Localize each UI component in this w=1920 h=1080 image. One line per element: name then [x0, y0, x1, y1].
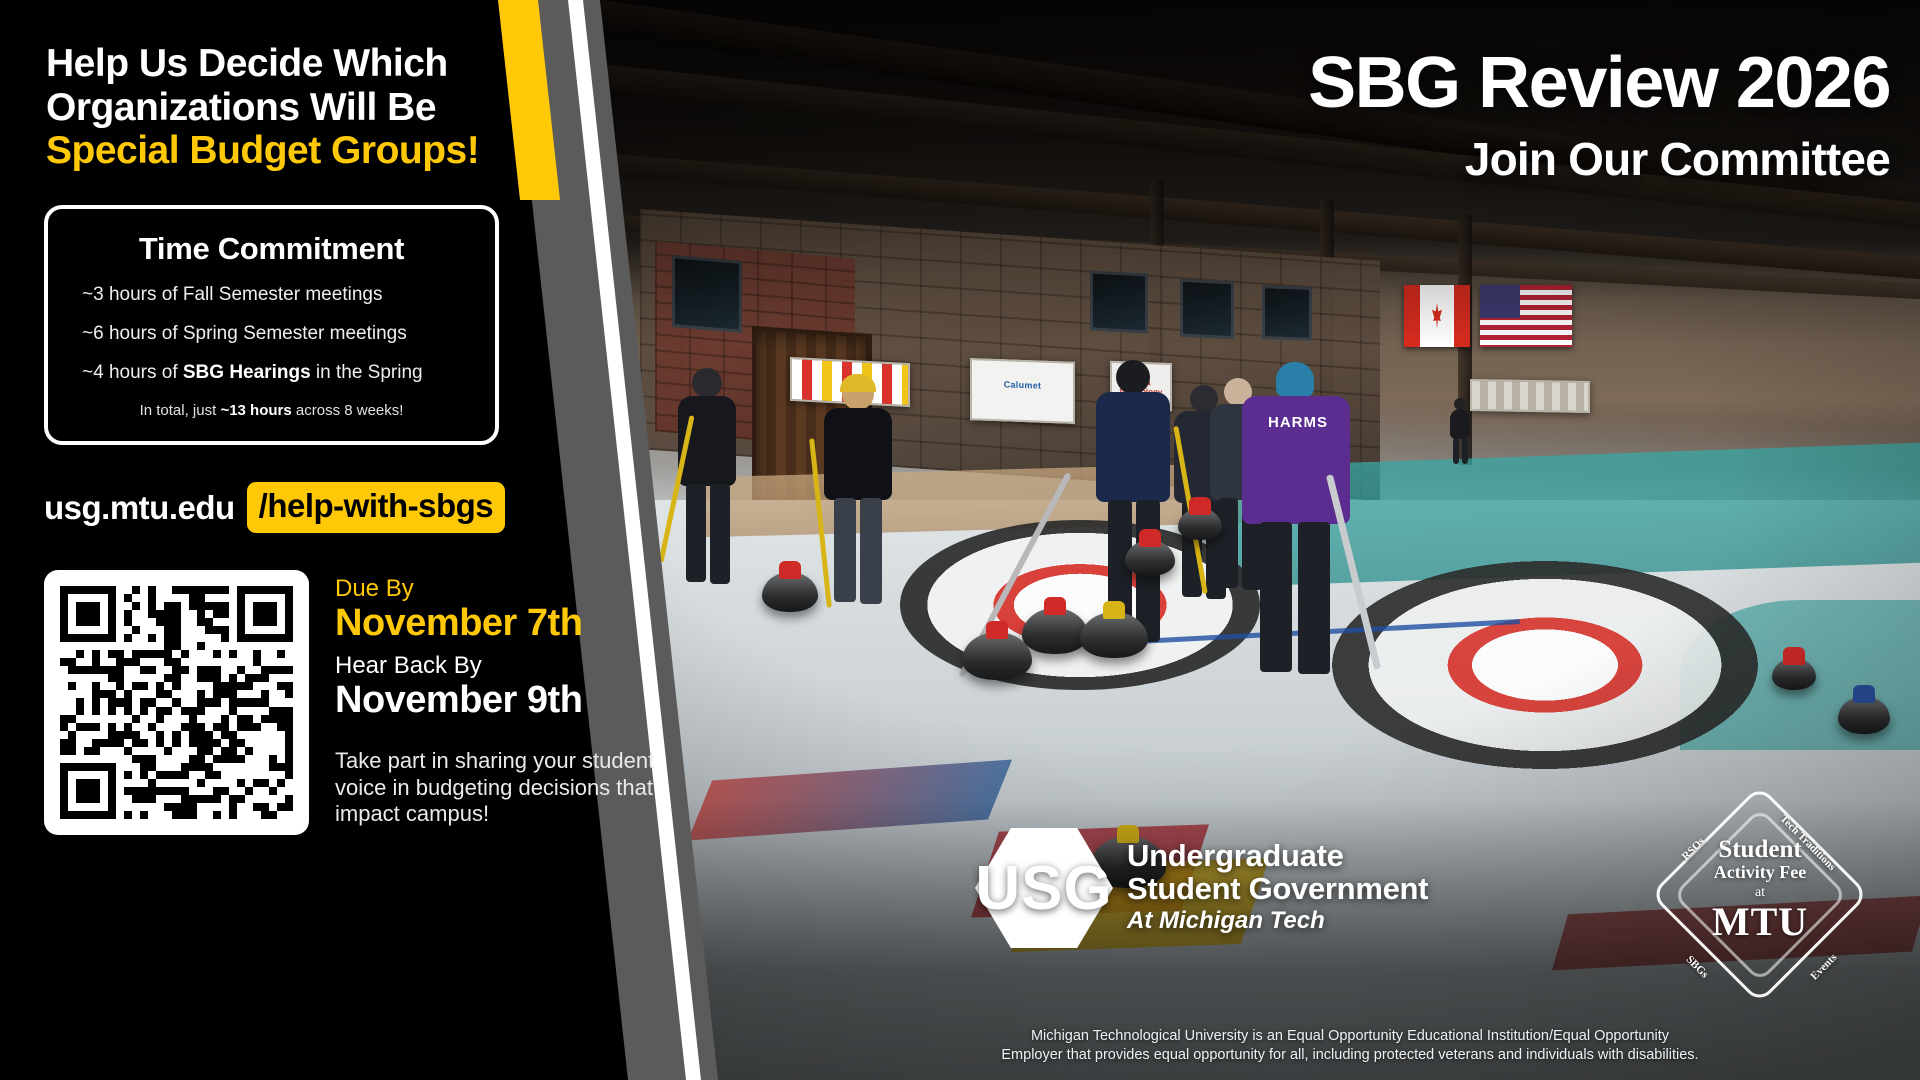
qr-module: [148, 594, 156, 602]
qr-module: [60, 698, 68, 706]
qr-module: [237, 811, 245, 819]
qr-module: [84, 650, 92, 658]
qr-module: [156, 610, 164, 618]
qr-module: [148, 739, 156, 747]
qr-module: [140, 779, 148, 787]
qr-module: [68, 602, 76, 610]
qr-module: [172, 634, 180, 642]
qr-module: [108, 731, 116, 739]
qr-module: [60, 747, 68, 755]
qr-module: [253, 803, 261, 811]
qr-module: [205, 747, 213, 755]
qr-module: [229, 610, 237, 618]
qr-module: [245, 642, 253, 650]
qr-module: [181, 787, 189, 795]
qr-module: [148, 682, 156, 690]
qr-module: [269, 787, 277, 795]
qr-module: [205, 715, 213, 723]
qr-module: [140, 634, 148, 642]
qr-module: [132, 610, 140, 618]
qr-module: [221, 658, 229, 666]
qr-module: [221, 634, 229, 642]
qr-module: [253, 682, 261, 690]
qr-module: [237, 787, 245, 795]
qr-module: [108, 690, 116, 698]
qr-module: [100, 787, 108, 795]
qr-module: [140, 763, 148, 771]
qr-module: [172, 698, 180, 706]
qr-module: [148, 723, 156, 731]
qr-module: [116, 739, 124, 747]
qr-module: [68, 715, 76, 723]
qr-module: [197, 594, 205, 602]
qr-module: [124, 658, 132, 666]
qr-module: [116, 698, 124, 706]
qr-module: [100, 642, 108, 650]
qr-module: [60, 787, 68, 795]
qr-module: [124, 715, 132, 723]
qr-module: [108, 634, 116, 642]
qr-module: [245, 755, 253, 763]
qr-module: [237, 795, 245, 803]
qr-module: [156, 658, 164, 666]
qr-module: [156, 650, 164, 658]
qr-module: [108, 795, 116, 803]
qr-module: [92, 707, 100, 715]
qr-module: [156, 586, 164, 594]
qr-module: [164, 771, 172, 779]
qr-module: [237, 731, 245, 739]
qr-module: [68, 739, 76, 747]
qr-module: [140, 731, 148, 739]
qr-module: [189, 698, 197, 706]
qr-module: [197, 650, 205, 658]
qr-module: [164, 650, 172, 658]
qr-module: [172, 747, 180, 755]
qr-module: [213, 747, 221, 755]
qr-module: [253, 690, 261, 698]
qr-module: [60, 586, 68, 594]
qr-module: [60, 771, 68, 779]
poster-subtitle: Join Our Committee: [1465, 132, 1890, 186]
qr-module: [172, 602, 180, 610]
qr-module: [229, 642, 237, 650]
qr-module: [124, 755, 132, 763]
qr-module: [156, 779, 164, 787]
qr-module: [181, 650, 189, 658]
qr-module: [245, 626, 253, 634]
qr-module: [116, 586, 124, 594]
qr-module: [68, 731, 76, 739]
qr-module: [164, 690, 172, 698]
qr-module: [140, 707, 148, 715]
qr-module: [229, 771, 237, 779]
qr-module: [277, 795, 285, 803]
qr-module: [116, 747, 124, 755]
qr-module: [205, 723, 213, 731]
qr-module: [148, 731, 156, 739]
qr-module: [221, 779, 229, 787]
qr-module: [92, 698, 100, 706]
qr-module: [189, 795, 197, 803]
qr-module: [261, 650, 269, 658]
qr-module: [100, 634, 108, 642]
qr-module: [172, 755, 180, 763]
qr-module: [189, 618, 197, 626]
qr-module: [269, 811, 277, 819]
qr-module: [108, 666, 116, 674]
qr-module: [181, 731, 189, 739]
qr-module: [285, 787, 293, 795]
qr-module: [253, 715, 261, 723]
qr-module: [92, 803, 100, 811]
website-url[interactable]: usg.mtu.edu /help-with-sbgs: [44, 482, 505, 533]
qr-module: [205, 787, 213, 795]
qr-module: [140, 787, 148, 795]
qr-module: [84, 658, 92, 666]
qr-module: [100, 610, 108, 618]
qr-module: [213, 634, 221, 642]
usg-letters: USG: [975, 828, 1113, 948]
qr-module: [237, 626, 245, 634]
headline-accent: Special Budget Groups!: [46, 129, 496, 173]
qr-module: [92, 666, 100, 674]
qr-module: [100, 650, 108, 658]
qr-module: [108, 682, 116, 690]
qr-module: [100, 771, 108, 779]
qr-module: [60, 610, 68, 618]
qr-module: [197, 739, 205, 747]
qr-module: [277, 618, 285, 626]
qr-module: [253, 634, 261, 642]
qr-module: [68, 618, 76, 626]
badge-corner-events: Events: [1809, 952, 1840, 983]
qr-module: [221, 642, 229, 650]
qr-module: [116, 731, 124, 739]
badge-corner-sbgs: SBGs: [1684, 953, 1711, 980]
qr-module: [100, 618, 108, 626]
poster-canvas: Calumet extra technology: [0, 0, 1920, 1080]
qr-module: [221, 747, 229, 755]
qr-module: [164, 779, 172, 787]
qr-module: [84, 698, 92, 706]
qr-module: [197, 771, 205, 779]
qr-module: [60, 626, 68, 634]
qr-module: [116, 715, 124, 723]
qr-module: [76, 779, 84, 787]
qr-module: [68, 795, 76, 803]
qr-module: [189, 650, 197, 658]
qr-module: [76, 747, 84, 755]
qr-module: [100, 731, 108, 739]
qr-module: [172, 650, 180, 658]
qr-module: [172, 642, 180, 650]
qr-module: [156, 731, 164, 739]
qr-module: [205, 771, 213, 779]
qr-module: [277, 771, 285, 779]
badge-line-activity-fee: Activity Fee: [1660, 862, 1860, 884]
qr-module: [197, 618, 205, 626]
qr-module: [156, 682, 164, 690]
qr-module: [197, 610, 205, 618]
qr-module: [253, 626, 261, 634]
qr-module: [253, 779, 261, 787]
qr-module: [84, 586, 92, 594]
qr-module: [253, 763, 261, 771]
qr-module: [189, 811, 197, 819]
qr-module: [132, 739, 140, 747]
qr-module: [269, 739, 277, 747]
qr-module: [253, 723, 261, 731]
qr-module: [148, 674, 156, 682]
qr-module: [269, 626, 277, 634]
qr-module: [132, 642, 140, 650]
qr-module: [68, 763, 76, 771]
total-prefix: In total, just: [140, 402, 221, 419]
qr-module: [277, 666, 285, 674]
qr-module: [124, 787, 132, 795]
qr-module: [84, 803, 92, 811]
qr-module: [124, 650, 132, 658]
qr-module: [60, 602, 68, 610]
qr-module: [181, 771, 189, 779]
qr-module: [229, 618, 237, 626]
qr-module: [245, 795, 253, 803]
qr-module: [156, 626, 164, 634]
qr-module: [269, 755, 277, 763]
qr-module: [253, 739, 261, 747]
qr-module: [92, 594, 100, 602]
qr-module: [245, 739, 253, 747]
qr-module: [205, 739, 213, 747]
qr-module: [60, 795, 68, 803]
qr-module: [84, 634, 92, 642]
qr-module: [100, 698, 108, 706]
qr-module: [92, 779, 100, 787]
qr-module: [221, 650, 229, 658]
qr-module: [116, 755, 124, 763]
qr-module: [172, 618, 180, 626]
qr-module: [124, 618, 132, 626]
qr-module: [229, 795, 237, 803]
qr-module: [253, 674, 261, 682]
qr-module: [100, 602, 108, 610]
qr-module: [237, 698, 245, 706]
hear-back-date: November 9th: [335, 680, 665, 722]
qr-module: [124, 610, 132, 618]
qr-module: [181, 602, 189, 610]
qr-module: [205, 610, 213, 618]
qr-module: [237, 594, 245, 602]
qr-module: [205, 618, 213, 626]
qr-module: [124, 594, 132, 602]
qr-module: [221, 755, 229, 763]
qr-module: [261, 771, 269, 779]
qr-module: [245, 594, 253, 602]
qr-module: [285, 723, 293, 731]
qr-module: [237, 618, 245, 626]
qr-module: [172, 594, 180, 602]
time-commitment-title: Time Commitment: [48, 231, 495, 267]
qr-module: [229, 674, 237, 682]
qr-module: [140, 803, 148, 811]
qr-module: [116, 803, 124, 811]
qr-module: [269, 650, 277, 658]
qr-module: [84, 715, 92, 723]
qr-module: [197, 634, 205, 642]
badge-line-mtu: MTU: [1660, 902, 1860, 942]
qr-module: [197, 731, 205, 739]
qr-module: [124, 698, 132, 706]
qr-module: [229, 811, 237, 819]
qr-module: [181, 715, 189, 723]
qr-module: [60, 755, 68, 763]
usg-line-1: Undergraduate: [1127, 840, 1428, 873]
qr-module: [164, 715, 172, 723]
qr-module: [229, 626, 237, 634]
qr-module: [285, 803, 293, 811]
qr-module: [269, 586, 277, 594]
qr-module: [213, 610, 221, 618]
qr-module: [172, 690, 180, 698]
qr-module: [237, 666, 245, 674]
qr-module: [68, 723, 76, 731]
qr-module: [197, 803, 205, 811]
qr-module: [277, 803, 285, 811]
qr-module: [261, 707, 269, 715]
qr-module: [108, 674, 116, 682]
qr-module: [269, 618, 277, 626]
qr-module: [108, 707, 116, 715]
qr-module: [237, 763, 245, 771]
qr-module: [277, 586, 285, 594]
qr-module: [140, 586, 148, 594]
qr-module: [156, 690, 164, 698]
qr-module: [269, 795, 277, 803]
qr-module: [261, 715, 269, 723]
qr-module: [237, 723, 245, 731]
qr-module: [76, 771, 84, 779]
qr-module: [285, 690, 293, 698]
qr-module: [189, 739, 197, 747]
qr-module: [140, 811, 148, 819]
qr-module: [261, 666, 269, 674]
qr-module: [76, 618, 84, 626]
qr-module: [245, 779, 253, 787]
qr-module: [76, 755, 84, 763]
qr-module: [108, 723, 116, 731]
qr-module: [132, 698, 140, 706]
qr-module: [132, 602, 140, 610]
qr-module: [156, 698, 164, 706]
qr-module: [100, 594, 108, 602]
qr-module: [124, 626, 132, 634]
qr-module: [164, 594, 172, 602]
qr-module: [237, 707, 245, 715]
qr-module: [221, 723, 229, 731]
qr-module: [237, 602, 245, 610]
qr-module: [76, 723, 84, 731]
qr-module: [189, 715, 197, 723]
qr-module: [76, 610, 84, 618]
qr-module: [76, 650, 84, 658]
qr-module: [84, 771, 92, 779]
qr-module: [245, 787, 253, 795]
qr-module: [100, 803, 108, 811]
qr-module: [285, 779, 293, 787]
qr-module: [68, 674, 76, 682]
qr-module: [221, 795, 229, 803]
qr-module: [92, 674, 100, 682]
qr-module: [108, 594, 116, 602]
qr-module: [245, 771, 253, 779]
qr-module: [205, 779, 213, 787]
qr-module: [229, 650, 237, 658]
qr-module: [132, 803, 140, 811]
qr-module: [197, 658, 205, 666]
qr-module: [68, 586, 76, 594]
qr-code[interactable]: [44, 570, 309, 835]
qr-module: [261, 658, 269, 666]
qr-module: [132, 690, 140, 698]
qr-module: [277, 698, 285, 706]
qr-module: [76, 739, 84, 747]
url-path-badge: /help-with-sbgs: [247, 482, 506, 533]
qr-module: [148, 602, 156, 610]
qr-module: [197, 682, 205, 690]
qr-module: [140, 650, 148, 658]
qr-module: [285, 634, 293, 642]
qr-module: [261, 618, 269, 626]
qr-module: [84, 723, 92, 731]
qr-module: [181, 666, 189, 674]
qr-module: [164, 787, 172, 795]
qr-module: [148, 610, 156, 618]
qr-module: [132, 755, 140, 763]
qr-module: [269, 682, 277, 690]
qr-module: [156, 715, 164, 723]
qr-module: [76, 698, 84, 706]
qr-module: [197, 747, 205, 755]
qr-module: [92, 634, 100, 642]
qr-module: [92, 795, 100, 803]
qr-module: [181, 795, 189, 803]
qr-module: [164, 586, 172, 594]
qr-module: [277, 739, 285, 747]
qr-module: [156, 618, 164, 626]
qr-module: [84, 739, 92, 747]
qr-module: [213, 626, 221, 634]
badge-core-text: Student Activity Fee at MTU: [1660, 837, 1860, 942]
qr-module: [229, 755, 237, 763]
qr-module: [92, 618, 100, 626]
qr-module: [164, 618, 172, 626]
usg-line-3: At Michigan Tech: [1127, 907, 1428, 936]
qr-module: [68, 658, 76, 666]
qr-module: [84, 682, 92, 690]
qr-module: [269, 731, 277, 739]
qr-module: [189, 658, 197, 666]
qr-module: [221, 594, 229, 602]
qr-module: [132, 779, 140, 787]
qr-module: [100, 682, 108, 690]
qr-module: [76, 666, 84, 674]
qr-module: [197, 642, 205, 650]
qr-module: [269, 594, 277, 602]
qr-module: [116, 594, 124, 602]
qr-module: [92, 723, 100, 731]
qr-module: [269, 634, 277, 642]
